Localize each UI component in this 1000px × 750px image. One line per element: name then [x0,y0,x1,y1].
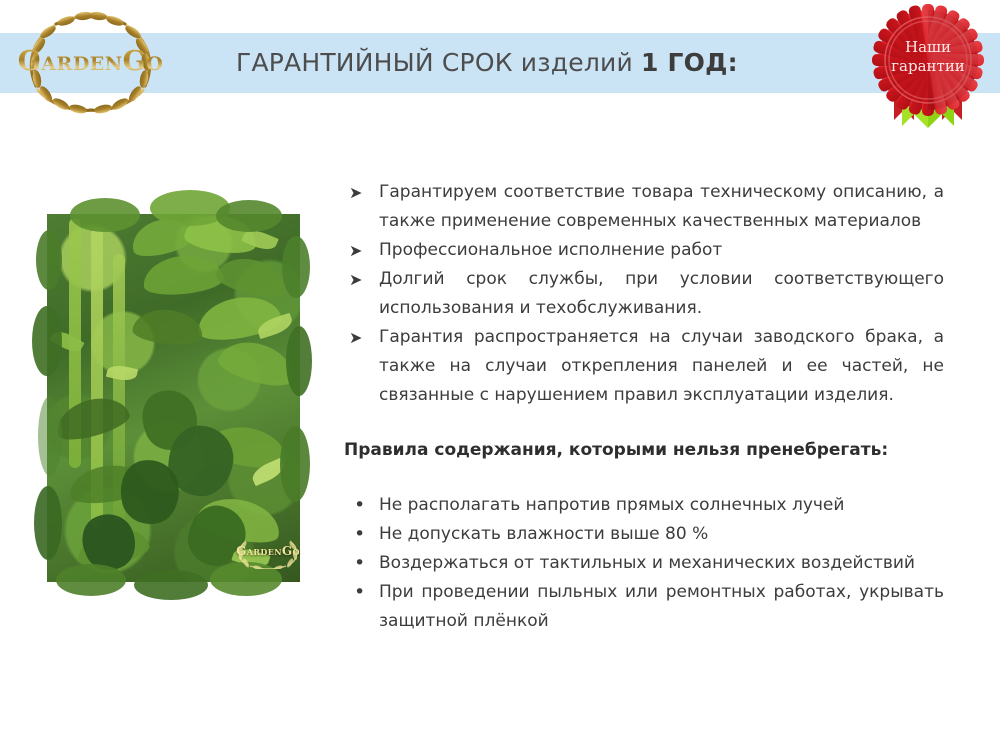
list-item: • Не допускать влажности выше 80 % [344,520,944,549]
guarantee-bullet-list: ➤ Гарантируем соответствие товара технич… [344,178,944,410]
list-item-text: Профессиональное исполнение работ [379,240,722,260]
plant-fringe [216,200,282,232]
plant-frond [141,252,225,298]
plant-fringe [280,426,310,502]
plant-fringe [38,396,62,476]
plant-frond [214,252,290,302]
arrow-bullet-icon: ➤ [349,178,362,207]
dot-bullet-icon: • [354,491,365,520]
list-item-text: Не допускать влажности выше 80 % [379,524,708,544]
list-item-text: Не располагать напротив прямых солнечных… [379,495,844,515]
list-item-text: Гарантируем соответствие товара техничес… [379,182,944,231]
dot-bullet-icon: • [354,578,365,607]
page-title-plain: ГАРАНТИЙНЫЙ СРОК изделий [236,48,641,77]
arrow-bullet-icon: ➤ [349,265,362,294]
list-item: ➤ Гарантируем соответствие товара технич… [344,178,944,236]
page-title-emphasis: 1 ГОД: [641,48,738,77]
content-spacer [344,465,944,491]
page-title: ГАРАНТИЙНЫЙ СРОК изделий 1 ГОД: [236,43,876,83]
dot-bullet-icon: • [354,520,365,549]
list-item: • При проведении пыльных или ремонтных р… [344,578,944,636]
dot-bullet-icon: • [354,549,365,578]
badge-label: Наши гарантии [872,38,984,76]
list-item-text: Долгий срок службы, при условии соответс… [379,269,944,318]
plant-leaf [106,363,138,383]
list-item-text: Гарантия распространяется на случаи заво… [379,327,944,405]
content-column: ➤ Гарантируем соответствие товара технич… [344,178,944,636]
list-item-text: Воздержаться от тактильных и механически… [379,553,915,573]
plant-fringe [36,230,62,290]
plant-fringe [56,564,126,596]
list-item: ➤ Профессиональное исполнение работ [344,236,944,265]
brand-logo[interactable]: GardenGo [8,6,173,118]
plant-fringe [286,326,312,396]
brand-wordmark: GardenGo [8,46,173,77]
plant-panel-body [47,214,300,582]
plant-fringe [70,198,140,232]
rules-heading: Правила содержания, которыми нельзя прен… [344,436,944,465]
content-spacer [344,410,944,436]
list-item: • Воздержаться от тактильных и механичес… [344,549,944,578]
arrow-bullet-icon: ➤ [349,236,362,265]
plant-fringe [32,306,62,376]
list-item-text: При проведении пыльных или ремонтных раб… [379,582,944,631]
guarantee-badge: Наши гарантии [866,2,990,136]
watermark-wreath-icon [232,535,304,569]
list-item: • Не располагать напротив прямых солнечн… [344,491,944,520]
badge-label-line2: гарантии [872,57,984,76]
badge-label-line1: Наши [872,38,984,57]
plant-fringe [34,486,62,560]
plant-fringe [282,236,310,298]
list-item: ➤ Гарантия распространяется на случаи за… [344,323,944,410]
rules-bullet-list: • Не располагать напротив прямых солнечн… [344,491,944,636]
plant-frond [131,306,204,347]
image-watermark: GardenGo [218,544,318,558]
arrow-bullet-icon: ➤ [349,323,362,352]
list-item: ➤ Долгий срок службы, при условии соотве… [344,265,944,323]
plant-fringe [134,570,208,600]
